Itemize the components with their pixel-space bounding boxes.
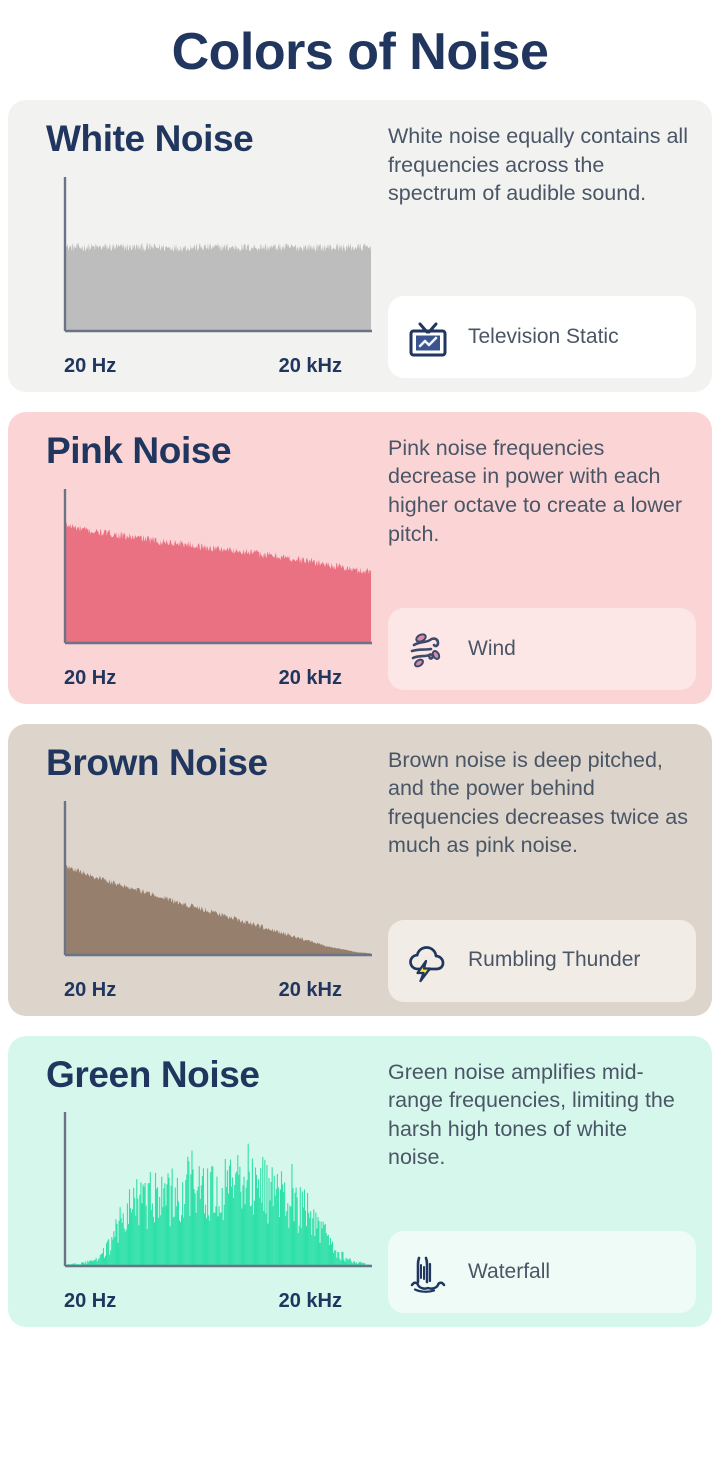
noise-card-brown: Brown Noise 20 Hz 20 kHz Brown noise is … <box>8 724 712 1016</box>
noise-card-white: White Noise 20 Hz 20 kHz White noise equ… <box>8 100 712 392</box>
axis-labels-green: 20 Hz 20 kHz <box>64 1290 342 1313</box>
waterfall-icon <box>402 1246 454 1298</box>
spectrum-svg-pink <box>62 481 374 659</box>
spectrum-svg-brown <box>62 793 374 971</box>
noise-description-brown: Brown noise is deep pitched, and the pow… <box>388 746 688 860</box>
axis-label-left-pink: 20 Hz <box>64 667 116 690</box>
noise-card-pink: Pink Noise 20 Hz 20 kHz Pink noise frequ… <box>8 412 712 704</box>
spectrum-svg-green <box>62 1104 374 1282</box>
source-chip-wind[interactable]: Wind <box>388 608 696 690</box>
chip-label-waterfall: Waterfall <box>468 1259 550 1285</box>
card-right-green: Green noise amplifies mid-range frequenc… <box>378 1050 696 1314</box>
television-icon <box>402 311 454 363</box>
spectrum-svg-white <box>62 169 374 347</box>
card-left-green: Green Noise 20 Hz 20 kHz <box>26 1050 378 1314</box>
noise-title-pink: Pink Noise <box>46 432 378 471</box>
axis-label-left-white: 20 Hz <box>64 355 116 378</box>
page-title: Colors of Noise <box>8 26 712 78</box>
source-chip-television-static[interactable]: Television Static <box>388 296 696 378</box>
card-right-pink: Pink noise frequencies decrease in power… <box>378 426 696 690</box>
chip-label-television-static: Television Static <box>468 324 619 350</box>
infographic-page: Colors of Noise White Noise 20 Hz 20 kHz… <box>0 0 720 1473</box>
axis-label-left-green: 20 Hz <box>64 1290 116 1313</box>
card-left-pink: Pink Noise 20 Hz 20 kHz <box>26 426 378 690</box>
axis-labels-pink: 20 Hz 20 kHz <box>64 667 342 690</box>
source-chip-rumbling-thunder[interactable]: Rumbling Thunder <box>388 920 696 1002</box>
axis-labels-brown: 20 Hz 20 kHz <box>64 979 342 1002</box>
axis-label-right-white: 20 kHz <box>279 355 342 378</box>
source-chip-waterfall[interactable]: Waterfall <box>388 1231 696 1313</box>
axis-label-right-green: 20 kHz <box>279 1290 342 1313</box>
noise-title-brown: Brown Noise <box>46 744 378 783</box>
card-left-brown: Brown Noise 20 Hz 20 kHz <box>26 738 378 1002</box>
noise-title-green: Green Noise <box>46 1056 378 1095</box>
spectrum-plot-white <box>62 169 374 347</box>
noise-card-green: Green Noise 20 Hz 20 kHz Green noise amp… <box>8 1036 712 1328</box>
wind-icon <box>402 623 454 675</box>
card-right-white: White noise equally contains all frequen… <box>378 114 696 378</box>
axis-label-right-pink: 20 kHz <box>279 667 342 690</box>
noise-description-green: Green noise amplifies mid-range frequenc… <box>388 1058 688 1172</box>
noise-description-white: White noise equally contains all frequen… <box>388 122 688 208</box>
spectrum-plot-pink <box>62 481 374 659</box>
noise-title-white: White Noise <box>46 120 378 159</box>
cloud-lightning-icon <box>402 935 454 987</box>
spectrum-plot-brown <box>62 793 374 971</box>
axis-labels-white: 20 Hz 20 kHz <box>64 355 342 378</box>
axis-label-right-brown: 20 kHz <box>279 979 342 1002</box>
card-left-white: White Noise 20 Hz 20 kHz <box>26 114 378 378</box>
axis-label-left-brown: 20 Hz <box>64 979 116 1002</box>
noise-description-pink: Pink noise frequencies decrease in power… <box>388 434 688 548</box>
card-right-brown: Brown noise is deep pitched, and the pow… <box>378 738 696 1002</box>
spectrum-plot-green <box>62 1104 374 1282</box>
chip-label-wind: Wind <box>468 636 516 662</box>
chip-label-rumbling-thunder: Rumbling Thunder <box>468 947 640 973</box>
